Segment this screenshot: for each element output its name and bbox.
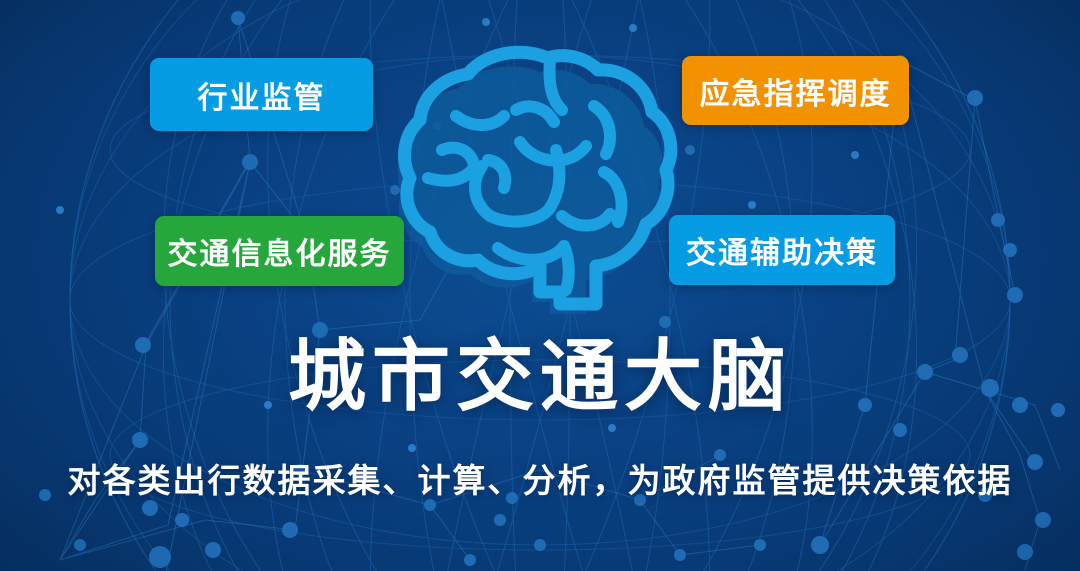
tag-label: 交通信息化服务 <box>168 229 392 273</box>
brain-icon <box>398 38 688 323</box>
tag-traffic-info-service[interactable]: 交通信息化服务 <box>155 216 404 286</box>
tag-label: 交通辅助决策 <box>686 228 878 272</box>
tag-label: 应急指挥调度 <box>700 69 892 113</box>
tag-label: 行业监管 <box>198 73 326 117</box>
page-subtitle: 对各类出行数据采集、计算、分析，为政府监管提供决策依据 <box>0 464 1080 497</box>
tag-emergency-command[interactable]: 应急指挥调度 <box>682 56 909 125</box>
tag-industry-supervision[interactable]: 行业监管 <box>150 58 373 131</box>
poster-canvas: 行业监管 应急指挥调度 交通信息化服务 交通辅助决策 城市交通大脑 对各类出行数… <box>0 0 1080 571</box>
page-title: 城市交通大脑 <box>0 337 1080 415</box>
tag-traffic-decision-aid[interactable]: 交通辅助决策 <box>669 215 895 285</box>
